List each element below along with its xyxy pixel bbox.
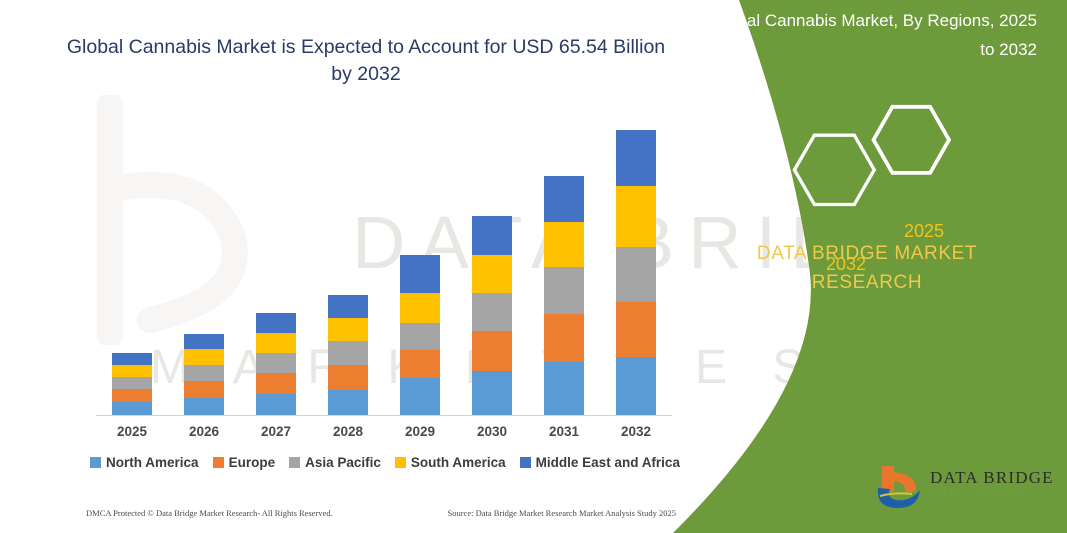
bar-segment	[616, 186, 656, 247]
x-axis-label-2028: 2028	[312, 424, 384, 439]
logo-wordmark: DATA BRIDGE	[930, 468, 1054, 488]
x-axis-label-2029: 2029	[384, 424, 456, 439]
bar-segment	[256, 394, 296, 415]
bar-segment	[616, 357, 656, 415]
stacked-bar	[328, 295, 368, 415]
legend-swatch-icon	[90, 457, 101, 468]
legend-swatch-icon	[213, 457, 224, 468]
chart-legend: North AmericaEuropeAsia PacificSouth Ame…	[96, 455, 674, 470]
bar-segment	[112, 365, 152, 377]
legend-item[interactable]: Europe	[213, 455, 276, 470]
legend-item[interactable]: North America	[90, 455, 199, 470]
bar-segment	[256, 333, 296, 353]
x-axis-label-2031: 2031	[528, 424, 600, 439]
x-axis-label-2030: 2030	[456, 424, 528, 439]
brand-line-1: DATA BRIDGE MARKET	[697, 239, 1037, 268]
bar-segment	[400, 255, 440, 293]
hexagon-shapes-icon	[667, 95, 1067, 215]
bar-group-2027	[240, 110, 312, 415]
bar-segment	[112, 389, 152, 402]
x-axis-label-2026: 2026	[168, 424, 240, 439]
bar-segment	[256, 313, 296, 333]
bar-segment	[400, 350, 440, 378]
legend-label: South America	[411, 455, 506, 470]
legend-item[interactable]: South America	[395, 455, 506, 470]
bar-segment	[472, 293, 512, 331]
bar-chart-plot-area	[96, 110, 672, 415]
bar-segment	[400, 293, 440, 323]
logo-tagline: MARKET RESEARCH	[930, 490, 1026, 496]
bar-segment	[544, 314, 584, 362]
bar-segment	[184, 349, 224, 365]
bar-segment	[328, 341, 368, 365]
stacked-bar	[256, 313, 296, 415]
bar-segment	[256, 353, 296, 373]
legend-swatch-icon	[395, 457, 406, 468]
bar-segment	[256, 373, 296, 394]
bar-segment	[328, 295, 368, 318]
stacked-bar	[112, 353, 152, 415]
bar-segment	[184, 398, 224, 415]
bar-segment	[400, 323, 440, 350]
stacked-bar	[472, 216, 512, 415]
data-bridge-logo-icon	[872, 462, 928, 512]
bar-group-2031	[528, 110, 600, 415]
bar-segment	[472, 331, 512, 371]
bar-group-2029	[384, 110, 456, 415]
stacked-bar	[184, 334, 224, 415]
bar-segment	[472, 255, 512, 293]
company-logo: DATA BRIDGE MARKET RESEARCH	[872, 462, 1058, 516]
legend-item[interactable]: Asia Pacific	[289, 455, 381, 470]
bar-segment	[544, 176, 584, 222]
stacked-bar	[616, 130, 656, 415]
bar-segment	[544, 362, 584, 415]
bar-segment	[472, 371, 512, 415]
bar-segment	[616, 130, 656, 186]
x-axis-labels: 20252026202720282029203020312032	[96, 424, 672, 439]
green-side-panel: Global Cannabis Market, By Regions, 2025…	[667, 0, 1067, 533]
legend-label: North America	[106, 455, 199, 470]
bar-segment	[328, 318, 368, 341]
footer-source: Source: Data Bridge Market Research Mark…	[447, 508, 676, 518]
legend-label: Europe	[229, 455, 276, 470]
bar-group-2028	[312, 110, 384, 415]
stacked-bar	[544, 176, 584, 415]
bar-segment	[544, 267, 584, 314]
footer-copyright: DMCA Protected © Data Bridge Market Rese…	[86, 508, 333, 518]
bar-segment	[184, 334, 224, 349]
infographic-canvas: DATA BRIDGE M A R K E T R E S E A R C H …	[0, 0, 1067, 533]
legend-item[interactable]: Middle East and Africa	[520, 455, 680, 470]
bar-segment	[400, 378, 440, 415]
bar-group-2025	[96, 110, 168, 415]
bar-segment	[544, 222, 584, 267]
bar-segment	[328, 365, 368, 390]
bar-segment	[112, 377, 152, 389]
bar-segment	[112, 402, 152, 415]
legend-swatch-icon	[520, 457, 531, 468]
bar-group-2026	[168, 110, 240, 415]
x-axis-label-2025: 2025	[96, 424, 168, 439]
x-axis-label-2032: 2032	[600, 424, 672, 439]
legend-label: Middle East and Africa	[536, 455, 680, 470]
bar-group-2032	[600, 110, 672, 415]
legend-label: Asia Pacific	[305, 455, 381, 470]
brand-name: DATA BRIDGE MARKET RESEARCH	[697, 239, 1037, 297]
brand-line-2: RESEARCH	[697, 268, 1037, 297]
bar-segment	[328, 390, 368, 415]
chart-title: Global Cannabis Market is Expected to Ac…	[60, 34, 672, 88]
hexagon-group: 2025 2032	[667, 95, 1067, 215]
x-axis-line	[96, 415, 672, 416]
footer: DMCA Protected © Data Bridge Market Rese…	[86, 508, 676, 518]
legend-swatch-icon	[289, 457, 300, 468]
bar-segment	[184, 365, 224, 381]
bar-segment	[616, 302, 656, 357]
bar-group-2030	[456, 110, 528, 415]
x-axis-label-2027: 2027	[240, 424, 312, 439]
stacked-bar	[400, 255, 440, 415]
bar-segment	[112, 353, 152, 365]
bar-segment	[184, 381, 224, 398]
panel-title: Global Cannabis Market, By Regions, 2025…	[707, 6, 1037, 64]
bar-segment	[472, 216, 512, 255]
bar-segment	[616, 247, 656, 302]
